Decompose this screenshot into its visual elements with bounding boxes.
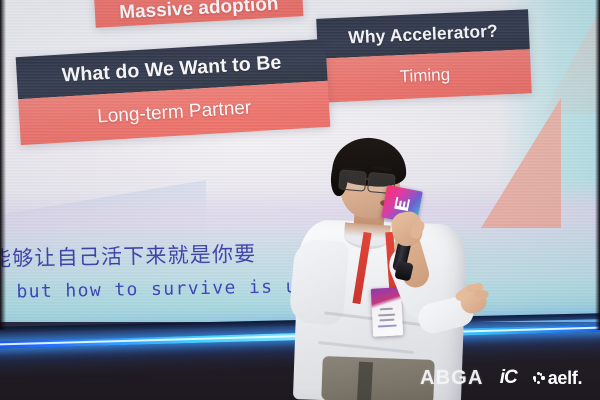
glasses-bridge	[364, 178, 369, 180]
slide-card-why-accelerator: Why Accelerator? Timing	[316, 9, 532, 103]
speaker-person	[300, 140, 490, 400]
frame-edge-right	[595, 0, 600, 330]
aelf-starburst-icon	[533, 372, 545, 384]
aelf-logo: aelf.	[533, 368, 583, 389]
slide-card-what-do-we-want-to-be: What do We Want to Be Long-term Partner	[16, 39, 331, 145]
aelf-logo-text: aelf.	[548, 368, 583, 389]
m-logo-icon	[394, 197, 410, 211]
pants-shadow	[357, 362, 373, 400]
glasses-lens-left	[338, 169, 367, 191]
ig-logo-mark: iC	[500, 368, 517, 387]
badge-text-lines	[377, 307, 398, 330]
conference-photo: Massive adoption Why Accelerator? Timing…	[0, 0, 600, 400]
ig-logo: iC	[500, 368, 517, 388]
speaker-badge	[371, 287, 403, 337]
speaker-pants	[321, 356, 434, 400]
gesturing-finger	[474, 289, 489, 298]
subtitle-chinese: 能够让自己活下来就是你要	[0, 238, 257, 273]
frame-edge-left	[0, 0, 6, 330]
sponsor-logo-row: ABGA iC aelf.	[420, 363, 596, 393]
abga-logo: ABGA	[420, 367, 484, 390]
